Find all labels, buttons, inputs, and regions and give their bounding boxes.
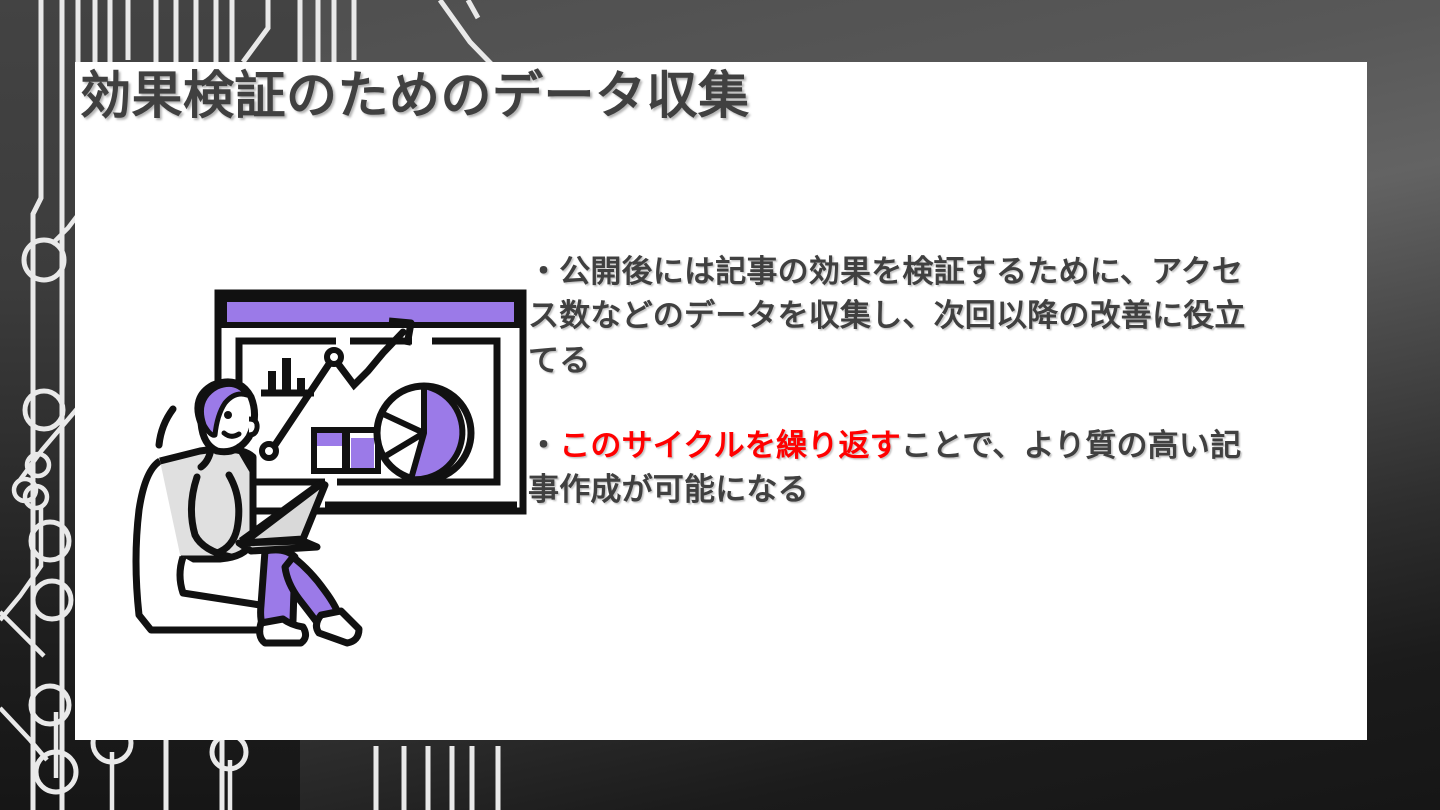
bullet-paragraph-2: ・このサイクルを繰り返すことで、より質の高い記事作成が可能になる: [528, 424, 1248, 513]
bullet-marker-2: ・: [528, 428, 559, 464]
dashboard-title-bar: [224, 299, 517, 325]
pie-chart: [377, 386, 471, 480]
dashboard-screen: [218, 293, 523, 511]
trend-line-node: [327, 350, 341, 364]
trend-line-start-node: [262, 444, 276, 458]
bullet-paragraph-1: ・公開後には記事の効果を検証するために、アクセス数などのデータを収集し、次回以降…: [528, 250, 1248, 383]
eye: [224, 411, 232, 419]
presentation-slide: 効果検証のためのデータ収集: [0, 0, 1440, 810]
rectangle-widget-right: [347, 430, 378, 471]
page-title: 効果検証のためのデータ収集: [80, 67, 750, 127]
analytics-illustration: [125, 285, 555, 660]
shoe-front: [260, 619, 306, 643]
rectangle-widget-left: [314, 430, 345, 471]
body-text-column: ・公開後には記事の効果を検証するために、アクセス数などのデータを収集し、次回以降…: [528, 250, 1248, 513]
shoe-back: [316, 611, 359, 643]
highlighted-phrase: このサイクルを繰り返す: [559, 428, 901, 464]
